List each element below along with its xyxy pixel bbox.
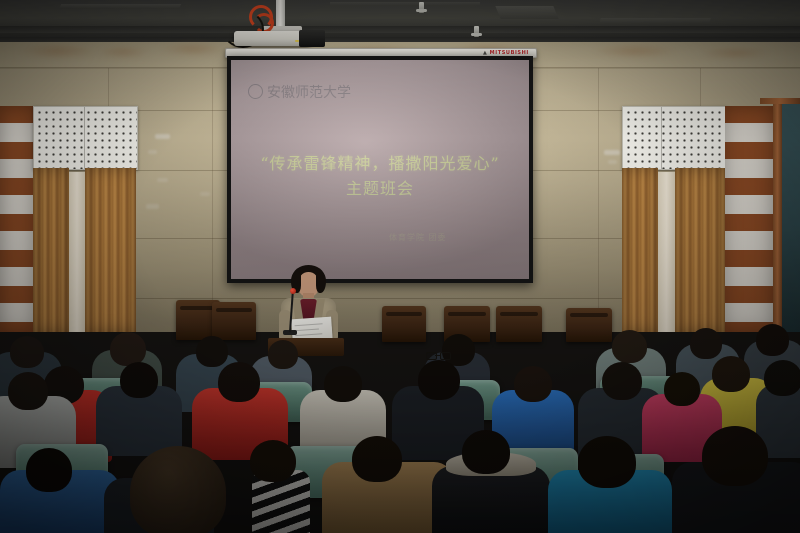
sprinkler-head — [474, 26, 479, 37]
audience-head-brown — [130, 446, 226, 533]
audience-head — [764, 360, 800, 396]
audience-head — [268, 340, 298, 369]
projector-mount-pole — [276, 0, 285, 27]
left-acoustic-panel — [33, 106, 138, 170]
screen-surface: 安徽师范大学 “传承雷锋精神，播撒阳光爱心” 主题班会 体育学院 团委 — [231, 60, 529, 279]
audience-head — [120, 362, 158, 398]
right-wood-slat-column-2 — [675, 168, 725, 332]
audience-body-black-puffer — [432, 466, 550, 533]
audience-head — [324, 366, 362, 402]
right-acoustic-panel — [622, 106, 727, 170]
ceiling-slot — [330, 2, 480, 6]
audience-head — [756, 324, 789, 356]
left-wood-slat-column-2 — [85, 168, 136, 332]
audience-head — [514, 366, 552, 402]
left-column-gap — [69, 172, 85, 332]
audience-head — [664, 372, 700, 406]
ceiling-slot — [599, 18, 710, 24]
stage-chair[interactable] — [566, 308, 612, 342]
audience-head — [690, 328, 722, 359]
ceiling — [0, 0, 800, 46]
projector-indicator-led — [295, 40, 299, 42]
lecture-hall-photo: ▲ MITSUBISHI 安徽师范大学 “传承雷锋精神，播撒阳光爱心” 主题班会… — [0, 0, 800, 533]
stage-chair[interactable] — [382, 306, 426, 342]
stage-chair[interactable] — [212, 302, 256, 340]
audience-head — [218, 362, 260, 402]
ceiling-slot — [59, 4, 181, 9]
right-column-gap — [658, 172, 675, 332]
audience-head — [196, 336, 228, 367]
audience-head — [8, 372, 48, 410]
stage-chair[interactable] — [496, 306, 542, 342]
audience-head — [418, 360, 460, 400]
audience-head — [110, 332, 146, 366]
audience-head — [250, 440, 296, 482]
left-wood-slat-column — [33, 168, 69, 332]
ceiling-vent — [495, 6, 558, 19]
audience-head — [712, 356, 750, 392]
audience-head — [602, 362, 642, 400]
audience-head — [10, 336, 44, 368]
left-stripe-panel — [0, 106, 33, 332]
sprinkler-head — [419, 2, 424, 13]
door-header — [760, 98, 800, 104]
right-wood-slat-column — [622, 168, 658, 332]
projector-lens-hood — [299, 30, 325, 47]
audience-head — [612, 330, 647, 363]
audience-head — [26, 448, 72, 492]
microphone-tip-icon — [290, 288, 296, 294]
door-frame[interactable] — [773, 100, 782, 332]
audience-head — [352, 436, 402, 482]
right-stripe-panel — [725, 106, 773, 332]
audience-head — [578, 436, 636, 488]
audience-head — [462, 430, 510, 474]
door-glass — [782, 104, 800, 332]
audience-head — [702, 426, 768, 486]
